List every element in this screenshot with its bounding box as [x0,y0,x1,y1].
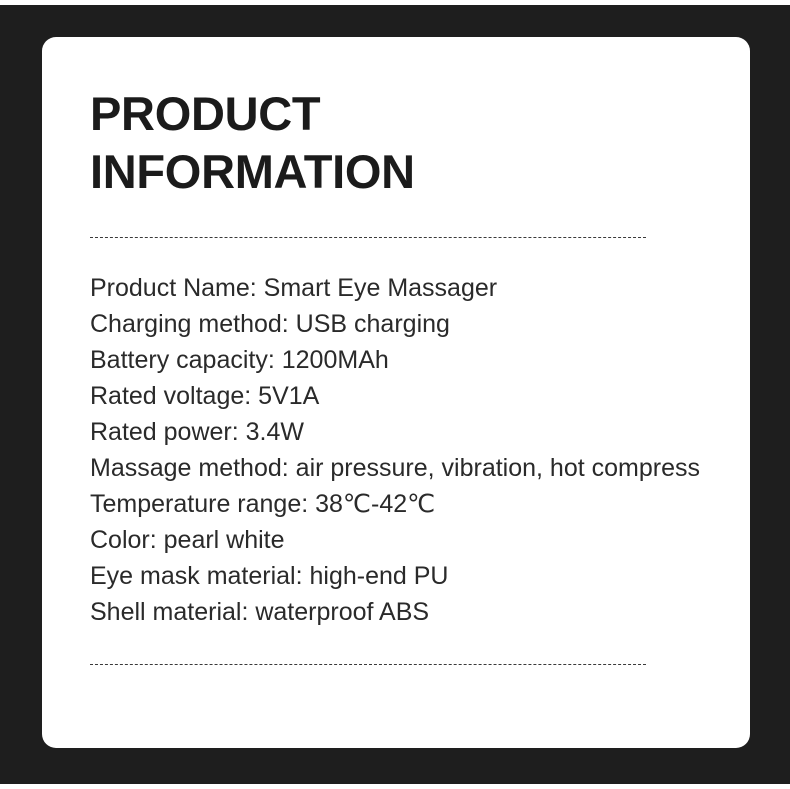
list-item: Rated power: 3.4W [90,414,708,450]
card-content: PRODUCT INFORMATION Product Name: Smart … [90,85,708,708]
list-item: Shell material: waterproof ABS [90,594,708,630]
product-information-canvas: PRODUCT INFORMATION Product Name: Smart … [0,0,790,789]
list-item: Eye mask material: high-end PU [90,558,708,594]
list-item: Battery capacity: 1200MAh [90,342,708,378]
divider-top [90,237,646,238]
list-item: Rated voltage: 5V1A [90,378,708,414]
list-item: Product Name: Smart Eye Massager [90,270,708,306]
list-item: Temperature range: 38℃-42℃ [90,486,708,522]
divider-bottom [90,664,646,665]
list-item: Charging method: USB charging [90,306,708,342]
product-information-card: PRODUCT INFORMATION Product Name: Smart … [42,37,750,748]
specification-list: Product Name: Smart Eye Massager Chargin… [90,270,708,630]
page-title: PRODUCT INFORMATION [90,85,520,201]
list-item: Color: pearl white [90,522,708,558]
list-item: Massage method: air pressure, vibration,… [90,450,708,486]
